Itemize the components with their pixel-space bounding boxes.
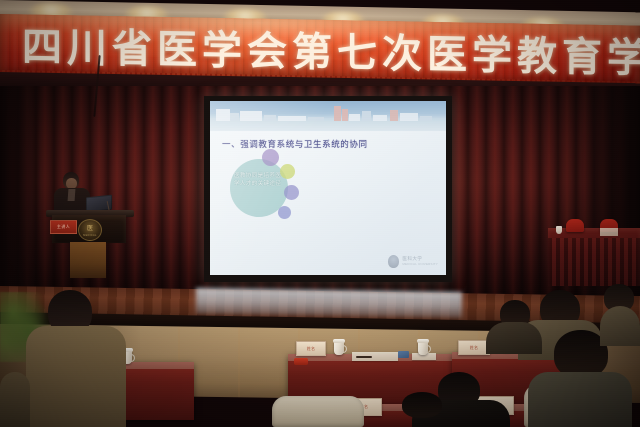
- slide-university-logo: 医科大学 MEDICAL UNIVERSITY: [388, 255, 438, 268]
- audience-person-front-center: [380, 392, 466, 427]
- red-folder-center: [294, 358, 308, 365]
- emblem-glyph: 医: [79, 223, 101, 232]
- teacup-lid: [333, 339, 345, 343]
- stage-table-name-card: [600, 228, 618, 236]
- speaker-shirt: [68, 189, 76, 201]
- teacup-center-1: [334, 341, 344, 355]
- slide-bubble-purple: [262, 149, 279, 166]
- curtain-shadow-left: [0, 86, 40, 301]
- slide-bubble-text: 医教协同是培养医学人才的关键途径: [234, 173, 286, 188]
- projection-screen: 一、强调教育系统与卫生系统的协同 医教协同是培养医学人才的关键途径 医科大学 M…: [204, 96, 452, 282]
- audience-person-far-left-edge: [0, 372, 30, 427]
- stage-table-skirt: [548, 238, 640, 286]
- audience-person-far-right: [600, 284, 640, 346]
- podium-emblem: 医 MEDICAL: [78, 219, 102, 241]
- person-head: [402, 392, 442, 418]
- stage-side-table: [548, 228, 640, 286]
- slide-header-photo: [210, 101, 446, 131]
- audience-person-left: [20, 290, 130, 427]
- emblem-subtitle: MEDICAL: [79, 234, 101, 237]
- person-torso: [26, 326, 126, 427]
- logo-subtitle: MEDICAL UNIVERSITY: [402, 262, 438, 266]
- conference-photo: 四川省医学会第七次医学教育学术会: [0, 0, 640, 427]
- chair-cover-center: [272, 396, 364, 427]
- teacup-lid: [417, 339, 429, 343]
- slide-bubble-violet: [284, 185, 299, 200]
- slide-bubble-blue: [278, 206, 291, 219]
- stage-chair-1: [566, 219, 584, 232]
- presentation-slide: 一、强调教育系统与卫生系统的协同 医教协同是培养医学人才的关键途径 医科大学 M…: [210, 101, 446, 275]
- pen-center: [356, 356, 372, 358]
- person-torso: [528, 372, 632, 427]
- stage-table-cup: [556, 226, 562, 234]
- stage-floor-reflection: [196, 288, 462, 318]
- podium-nameplate: 主讲人: [50, 220, 77, 234]
- university-crest-icon: [388, 255, 399, 268]
- slide-heading: 一、强调教育系统与卫生系统的协同: [222, 138, 368, 150]
- smartphone-center: [398, 351, 409, 358]
- podium-nameplate-text: 主讲人: [57, 224, 70, 230]
- audience-person-back-right: [486, 300, 542, 354]
- slide-photo-water: [210, 121, 446, 131]
- person-torso: [0, 372, 30, 427]
- person-torso: [600, 306, 640, 346]
- podium-area: 医 MEDICAL 主讲人: [42, 168, 152, 288]
- name-card-text-1: 姓名: [307, 346, 316, 352]
- person-torso: [486, 322, 542, 354]
- podium-base: [70, 242, 106, 278]
- teacup-center-2: [418, 341, 428, 355]
- name-card-text-2: 姓名: [470, 345, 479, 351]
- name-card-center-1: 姓名: [296, 341, 326, 356]
